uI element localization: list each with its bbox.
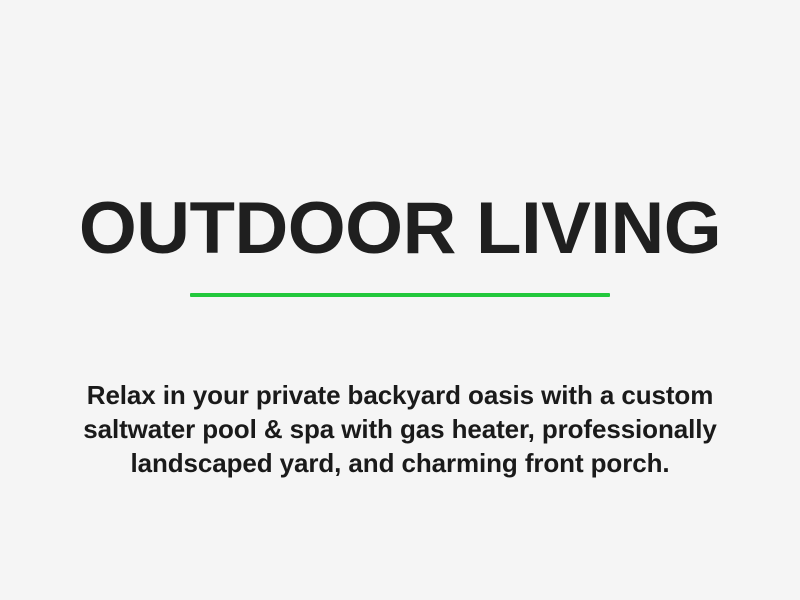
description-line-2: saltwater pool & spa with gas heater, pr… <box>50 412 750 446</box>
divider-container <box>0 285 800 305</box>
outdoor-living-slide: OUTDOOR LIVING Relax in your private bac… <box>0 0 800 600</box>
page-title: OUTDOOR LIVING <box>0 189 800 269</box>
description-line-3: landscaped yard, and charming front porc… <box>50 446 750 480</box>
accent-divider <box>190 293 610 297</box>
description-line-1: Relax in your private backyard oasis wit… <box>50 378 750 412</box>
description-paragraph: Relax in your private backyard oasis wit… <box>50 378 750 480</box>
